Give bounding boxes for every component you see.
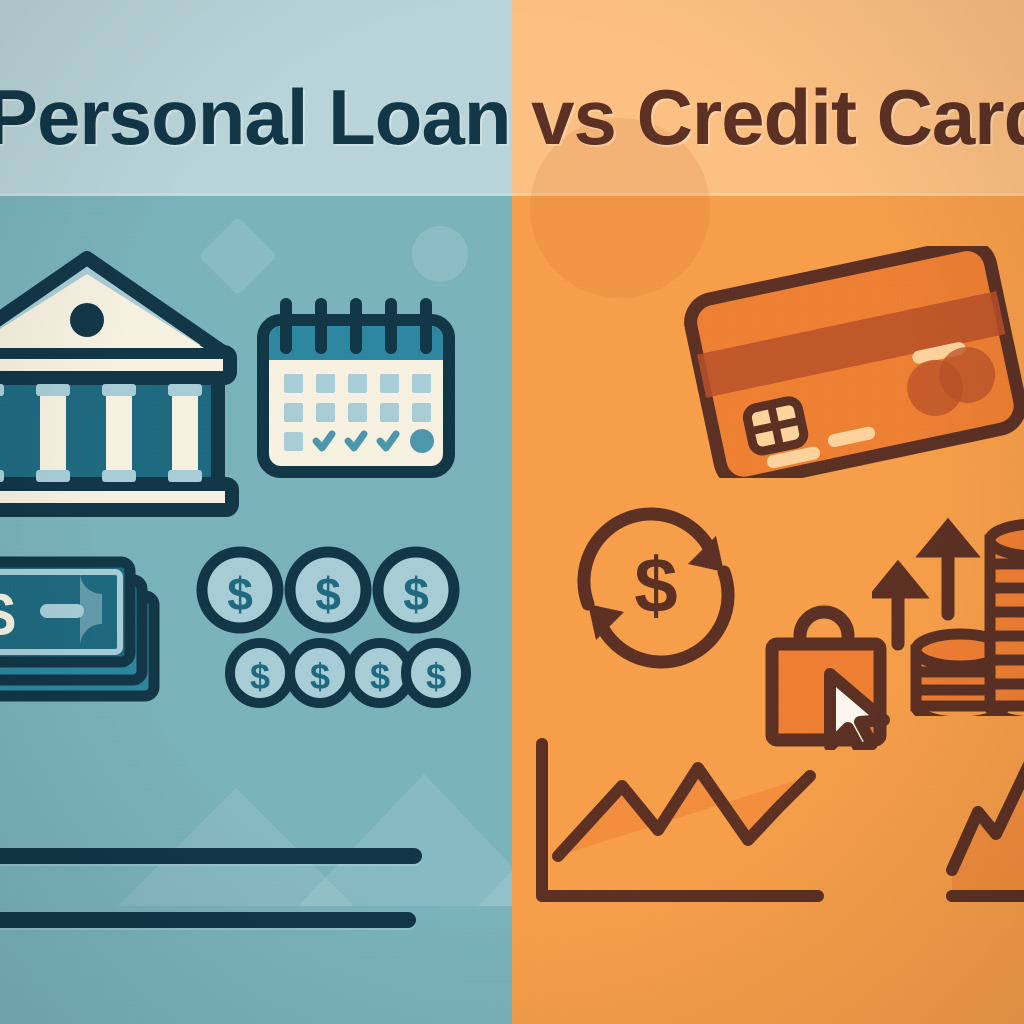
svg-text:$: $ xyxy=(634,541,677,629)
arrow-up-icon xyxy=(880,528,967,644)
svg-text:$: $ xyxy=(426,656,446,697)
svg-text:$: $ xyxy=(227,568,253,620)
line-chart-icon xyxy=(528,730,878,920)
recurring-payment-icon: $ xyxy=(566,500,746,676)
banknote-stack-icon: $ xyxy=(0,556,165,708)
panel-credit-card: $ xyxy=(512,0,1024,1024)
svg-text:$: $ xyxy=(403,568,429,620)
svg-text:$: $ xyxy=(0,581,15,650)
panel-personal-loan: $ $ $ $ $ xyxy=(0,0,512,1024)
svg-text:$: $ xyxy=(370,656,390,697)
coins-icon: $ $ $ $ $ $ $ xyxy=(196,548,462,710)
coin-stack-icon xyxy=(872,496,1024,716)
mountain-shape-icon xyxy=(478,784,512,906)
credit-card-icon xyxy=(680,246,1024,478)
svg-text:$: $ xyxy=(315,568,341,620)
circle-shape-icon xyxy=(412,226,468,282)
text-bar-icon xyxy=(0,912,416,928)
text-bar-icon xyxy=(0,848,422,864)
bank-building-icon xyxy=(0,248,232,516)
svg-text:$: $ xyxy=(310,656,330,697)
line-chart-icon xyxy=(944,730,1024,920)
calendar-icon xyxy=(256,298,456,480)
svg-text:$: $ xyxy=(250,656,270,697)
left-header-band xyxy=(0,0,512,196)
comparison-infographic: $ $ $ $ $ xyxy=(0,0,1024,1024)
